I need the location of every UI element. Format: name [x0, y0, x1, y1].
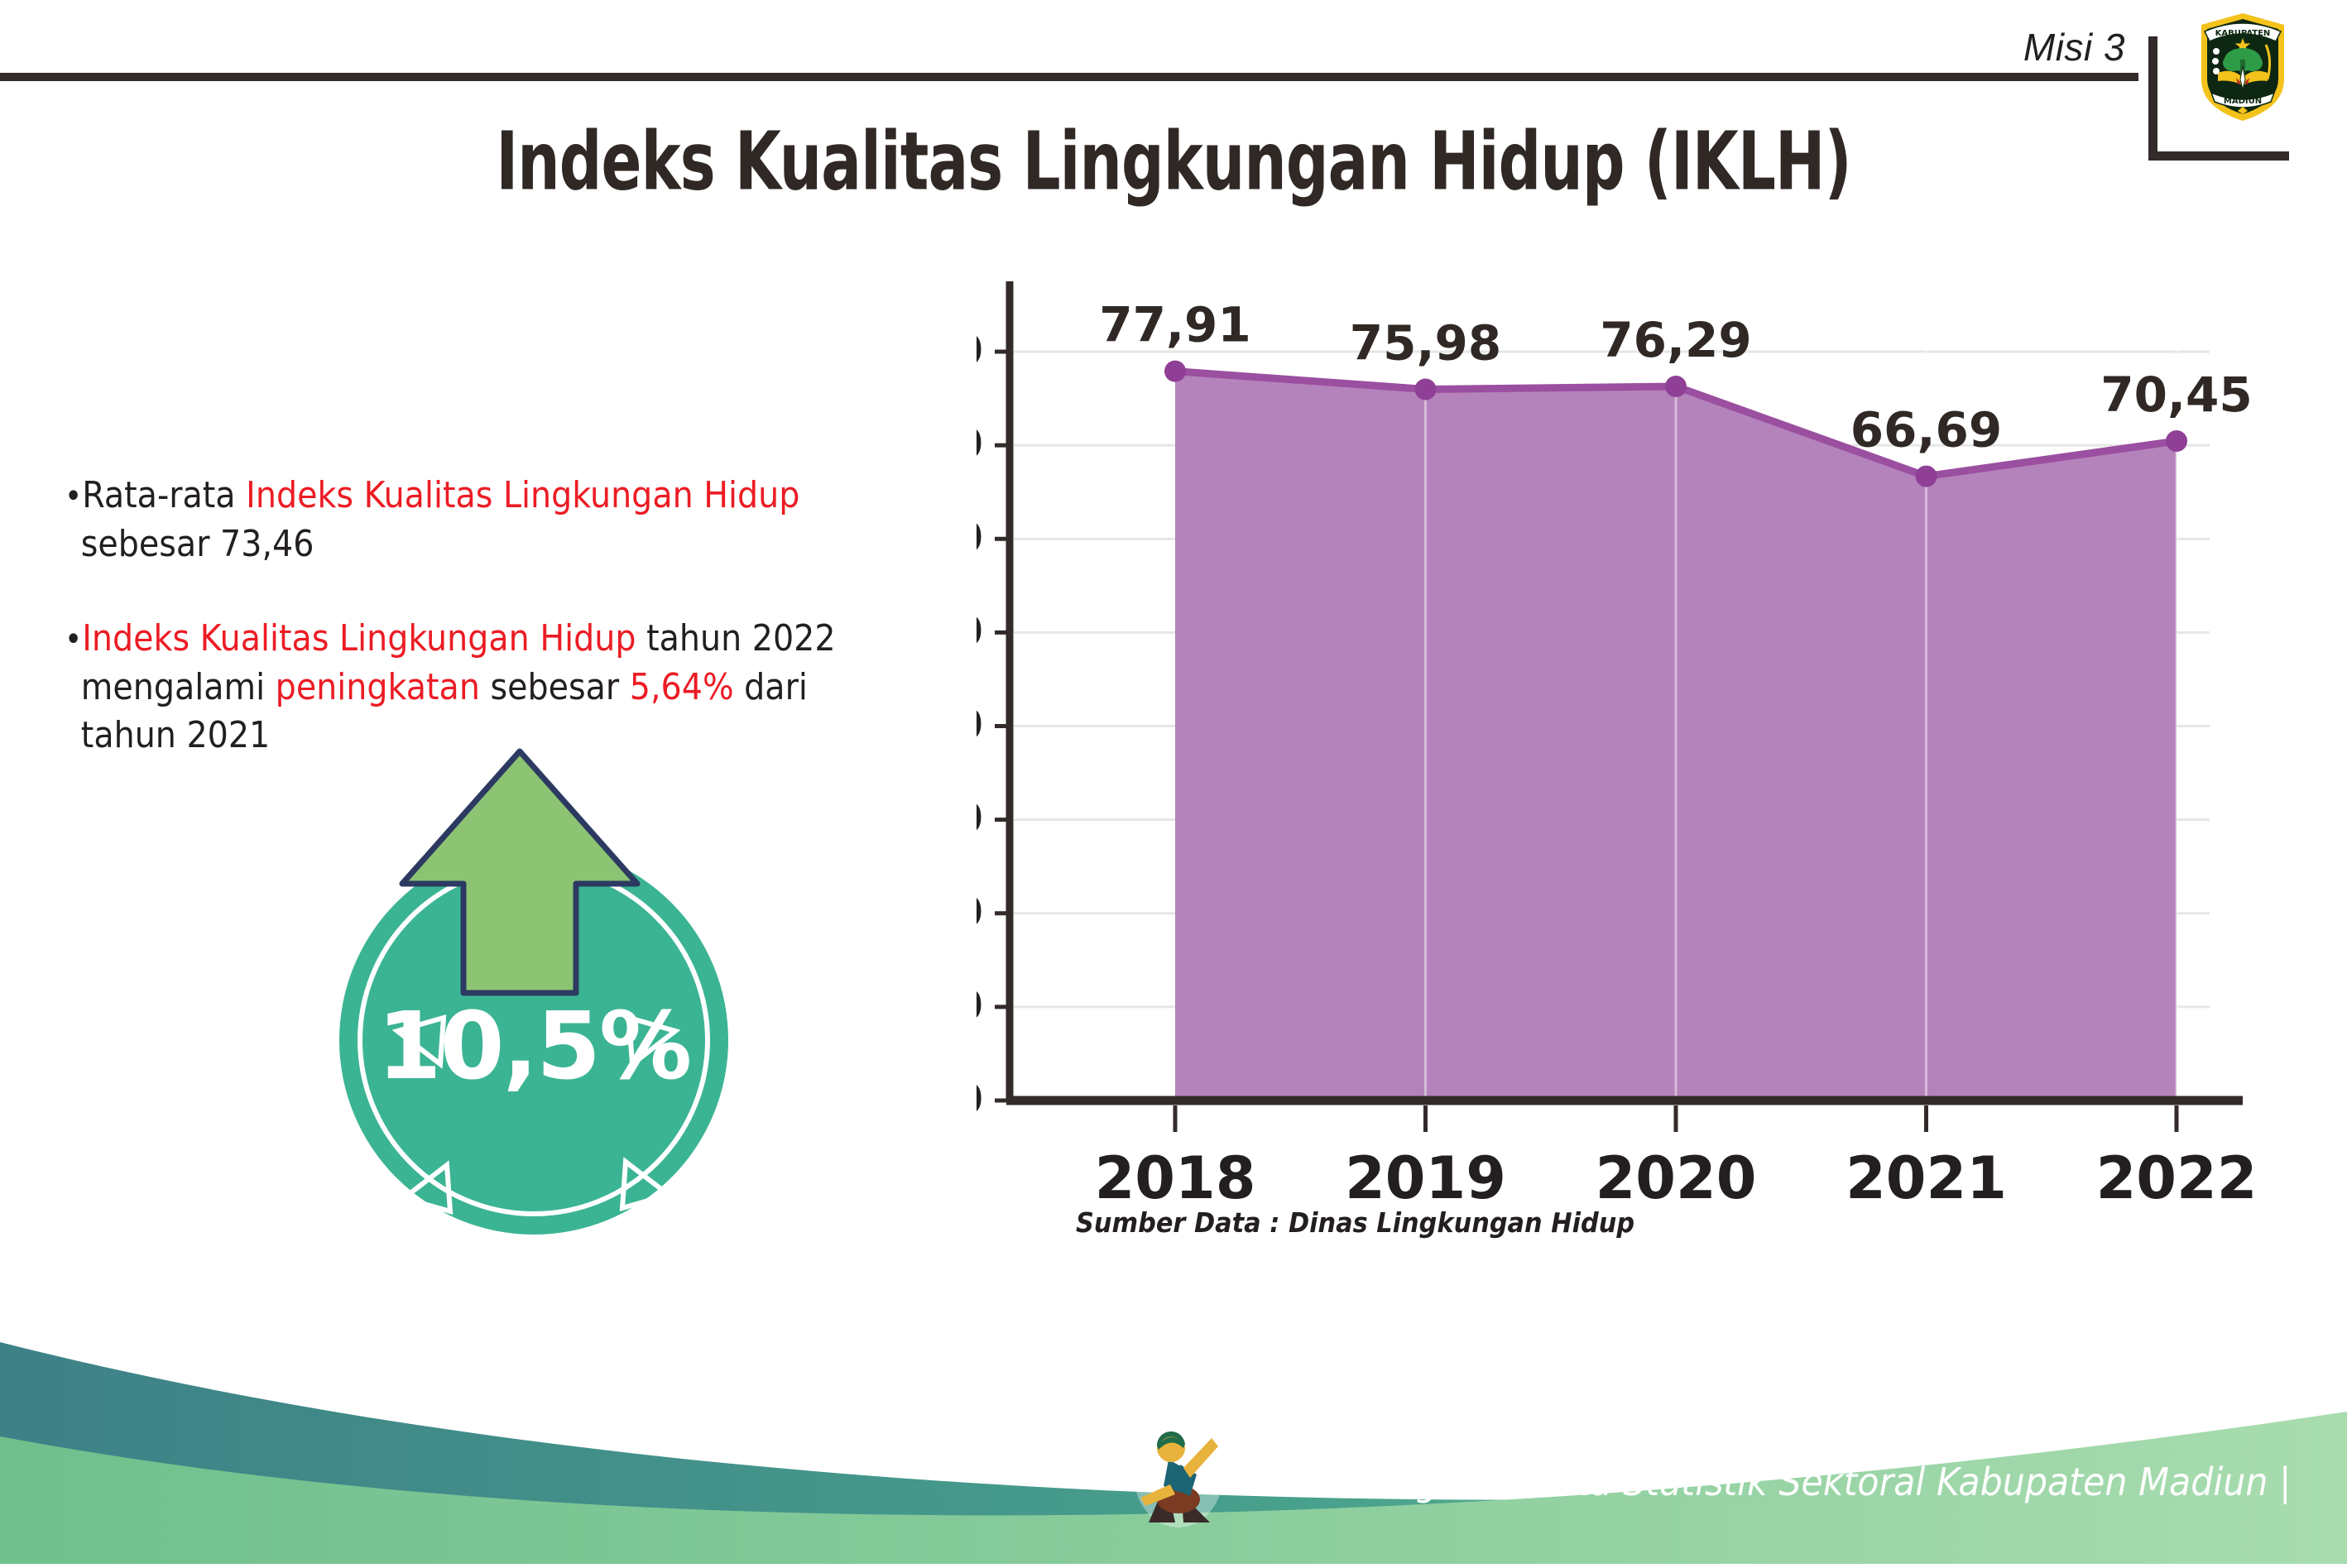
chart-canvas: 01020304050607080 77,9175,9876,2966,6970…: [977, 273, 2268, 1208]
data-point-marker: [1164, 361, 1186, 382]
y-tick-label: 20: [977, 888, 983, 937]
increase-badge: 10,5%: [323, 745, 753, 1208]
kabupaten-madiun-crest-icon: KABUPATEN MADIUN: [2193, 8, 2292, 124]
statistics-figure-icon: [1132, 1420, 1225, 1529]
bullet-2-seg-3: sebesar: [480, 666, 630, 708]
bullet-item-1: •Rata-rata Indeks Kualitas Lingkungan Hi…: [65, 472, 869, 568]
bullet-2-seg-2: peningkatan: [276, 666, 480, 708]
header-divider-rule: [0, 73, 2138, 81]
x-tick-label: 2021: [1845, 1144, 2007, 1208]
bullet-dot-icon: •: [65, 477, 82, 515]
x-tick-label: 2020: [1596, 1144, 1757, 1208]
x-tick-label: 2019: [1345, 1144, 1506, 1208]
y-tick-label: 60: [977, 513, 983, 563]
bullet-item-2: •Indeks Kualitas Lingkungan Hidup tahun …: [65, 615, 869, 760]
badge-percentage-value: 10,5%: [339, 993, 728, 1100]
y-tick-label: 0: [977, 1075, 983, 1124]
data-label: 75,98: [1350, 314, 1501, 371]
y-tick-label: 70: [977, 420, 983, 469]
data-point-marker: [1415, 378, 1437, 400]
data-label: 77,91: [1099, 297, 1250, 353]
data-point-marker: [1665, 376, 1687, 397]
bullet-1-seg-0: Rata-rata: [82, 474, 246, 516]
chart-x-tick-labels: 20182019202020212022: [1095, 1144, 2258, 1208]
chart-source-note: Sumber Data : Dinas Lingkungan Hidup: [1076, 1206, 1634, 1239]
svg-text:MADIUN: MADIUN: [2224, 97, 2262, 106]
y-tick-label: 30: [977, 794, 983, 844]
y-tick-label: 40: [977, 701, 983, 750]
data-label: 76,29: [1600, 312, 1751, 368]
footer-caption: Media Infografis Data Statistik Sektoral…: [1231, 1460, 2291, 1504]
up-arrow-icon: [396, 745, 644, 1018]
data-point-marker: [2166, 430, 2187, 452]
badge-tick-bottom-left-icon: [399, 1157, 465, 1216]
data-label: 70,45: [2100, 367, 2252, 423]
bullet-2-seg-4: 5,64%: [630, 666, 734, 708]
y-tick-label: 10: [977, 981, 983, 1031]
data-point-marker: [1916, 466, 1937, 487]
bullet-dot-icon: •: [65, 621, 82, 659]
bullet-1-seg-1: Indeks Kualitas Lingkungan Hidup: [246, 474, 799, 516]
misi-label: Misi 3: [2023, 25, 2125, 70]
svg-text:KABUPATEN: KABUPATEN: [2215, 29, 2271, 38]
y-tick-label: 50: [977, 607, 983, 656]
bullet-1-seg-2: sebesar 73,46: [81, 523, 314, 565]
chart-y-tick-labels: 01020304050607080: [977, 326, 983, 1124]
badge-tick-bottom-right-icon: [607, 1153, 674, 1213]
y-tick-label: 80: [977, 326, 983, 376]
page-title: Indeks Kualitas Lingkungan Hidup (IKLH): [141, 116, 2206, 209]
bullet-2-seg-0: Indeks Kualitas Lingkungan Hidup: [82, 617, 636, 659]
iklh-area-chart: 01020304050607080 77,9175,9876,2966,6970…: [977, 273, 2268, 1208]
x-tick-label: 2022: [2096, 1144, 2258, 1208]
x-tick-label: 2018: [1095, 1144, 1256, 1208]
data-label: 66,69: [1850, 402, 2002, 458]
chart-x-ticks: [1175, 1105, 2177, 1132]
footer-band: Media Infografis Data Statistik Sektoral…: [0, 1291, 2347, 1564]
